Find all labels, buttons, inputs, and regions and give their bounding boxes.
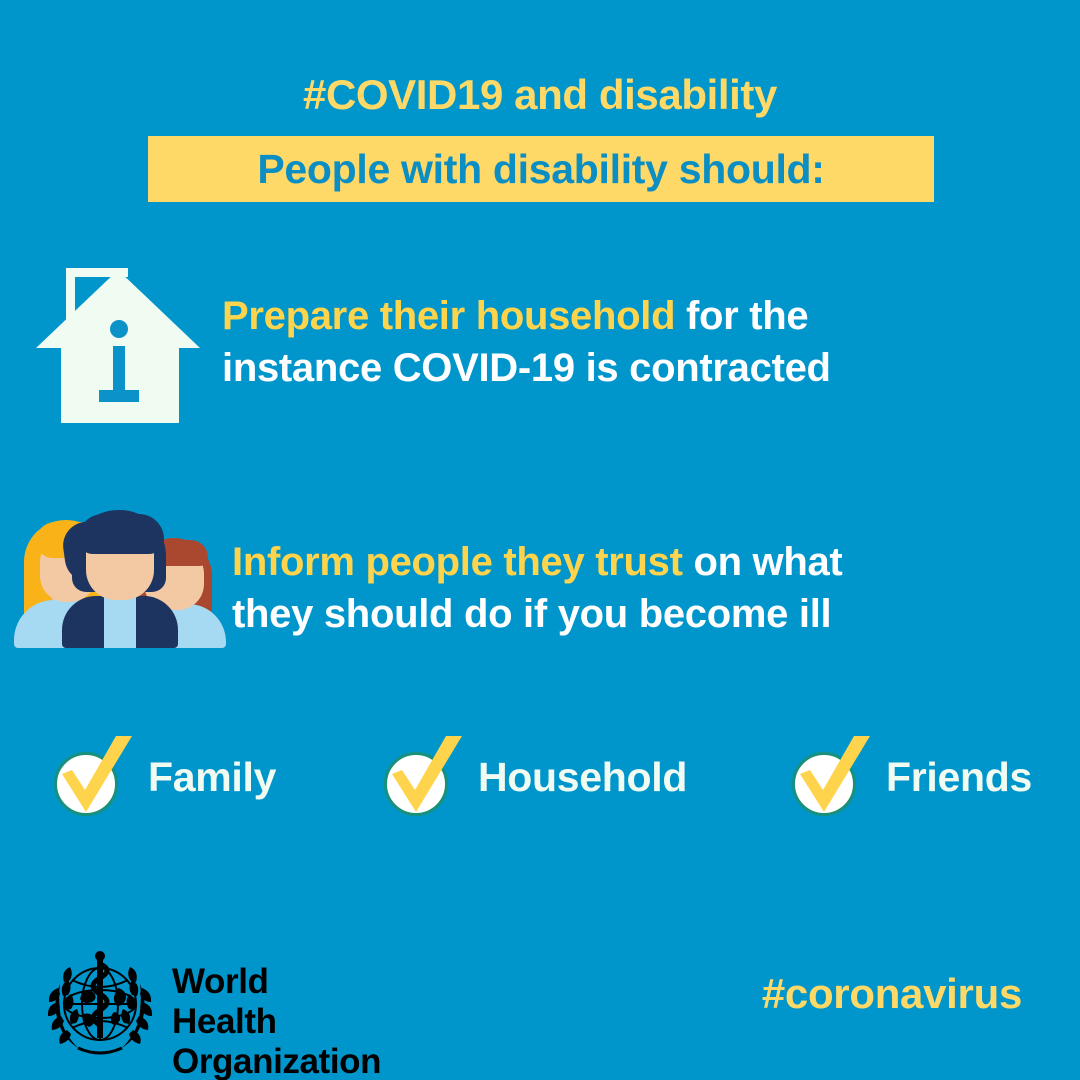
who-wordmark: World Health Organization: [172, 962, 381, 1080]
three-people-icon: [14, 508, 226, 648]
person-center-fringe: [78, 514, 164, 554]
check-circle-icon: [378, 738, 464, 824]
hashtag-coronavirus: #coronavirus: [762, 970, 1022, 1018]
message-prepare-household: Prepare their household for the instance…: [222, 290, 1062, 394]
poster-canvas: #COVID19 and disability People with disa…: [0, 0, 1080, 1080]
subtitle-banner: People with disability should:: [148, 136, 934, 202]
who-logo: World Health Organization: [38, 948, 378, 1060]
message-2-highlight: Inform people they trust: [232, 540, 683, 584]
message-2-rest: on what: [683, 540, 843, 584]
who-org-line-1: World Health: [172, 962, 381, 1042]
page-title: #COVID19 and disability: [0, 74, 1080, 116]
check-tick-glyph: [380, 734, 466, 824]
check-circle-icon: [786, 738, 872, 824]
info-glyph-dot: [110, 320, 128, 338]
house-info-icon: [36, 258, 226, 428]
subtitle-text: People with disability should:: [148, 136, 934, 202]
message-1-highlight: Prepare their household: [222, 294, 675, 338]
message-2-line2: they should do if you become ill: [232, 592, 831, 636]
check-tick-glyph: [50, 734, 136, 824]
who-org-line-2: Organization: [172, 1042, 381, 1080]
message-1-rest: for the: [675, 294, 808, 338]
message-1-line2: instance COVID-19 is contracted: [222, 346, 831, 390]
checklist-label-family: Family: [148, 754, 276, 801]
checklist-label-household: Household: [478, 754, 687, 801]
person-center-tie: [112, 604, 128, 648]
checklist-label-friends: Friends: [886, 754, 1032, 801]
message-inform-people: Inform people they trust on what they sh…: [232, 536, 1072, 640]
check-tick-glyph: [788, 734, 874, 824]
check-circle-icon: [48, 738, 134, 824]
info-glyph-base: [99, 390, 139, 402]
who-emblem-icon: [38, 948, 162, 1060]
